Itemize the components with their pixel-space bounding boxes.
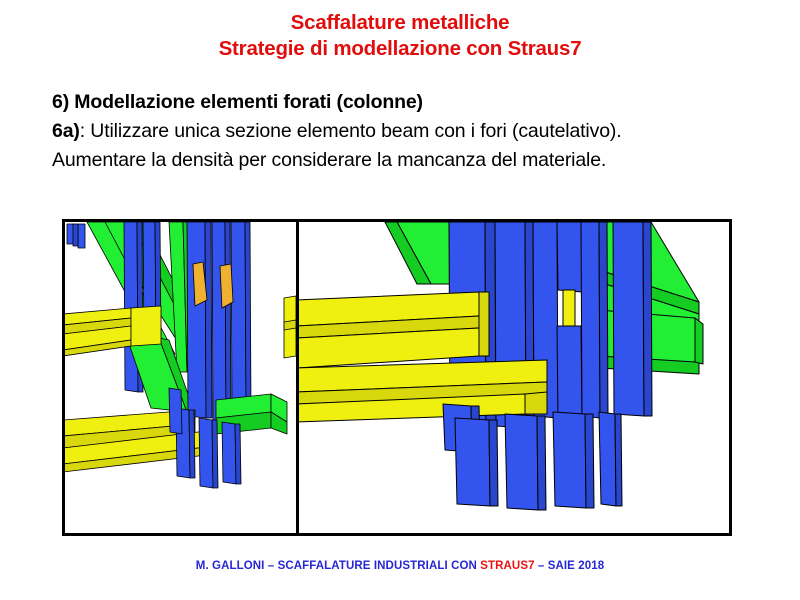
- title-line-2: Strategie di modellazione con Straus7: [0, 36, 800, 62]
- page-title: Scaffalature metalliche Strategie di mod…: [0, 10, 800, 62]
- body-text: 6) Modellazione elementi forati (colonne…: [52, 88, 794, 175]
- body-line-3: Aumentare la densità per considerare la …: [52, 146, 794, 175]
- footer: M. GALLONI – SCAFFALATURE INDUSTRIALI CO…: [0, 560, 800, 572]
- detail-3d-render: [299, 222, 729, 533]
- body-line-2-text: : Utilizzare unica sezione elemento beam…: [80, 120, 622, 142]
- title-line-1: Scaffalature metalliche: [291, 11, 510, 34]
- body-line-2: 6a): Utilizzare unica sezione elemento b…: [52, 117, 794, 146]
- footer-part-2: – SAIE 2018: [535, 560, 605, 572]
- figure-frame: [62, 219, 732, 536]
- body-line-2-label: 6a): [52, 120, 80, 142]
- figure-panel-detail: [299, 222, 729, 533]
- footer-highlight: STRAUS7: [480, 560, 534, 572]
- body-line-1: 6) Modellazione elementi forati (colonne…: [52, 88, 794, 117]
- overview-3d-render: [65, 222, 296, 533]
- body-line-3-text: Aumentare la densità per considerare la …: [52, 149, 606, 171]
- figure-panel-overview: [65, 222, 296, 533]
- footer-part-1: M. GALLONI – SCAFFALATURE INDUSTRIALI CO…: [196, 560, 480, 572]
- body-line-1-text: 6) Modellazione elementi forati (colonne…: [52, 91, 423, 113]
